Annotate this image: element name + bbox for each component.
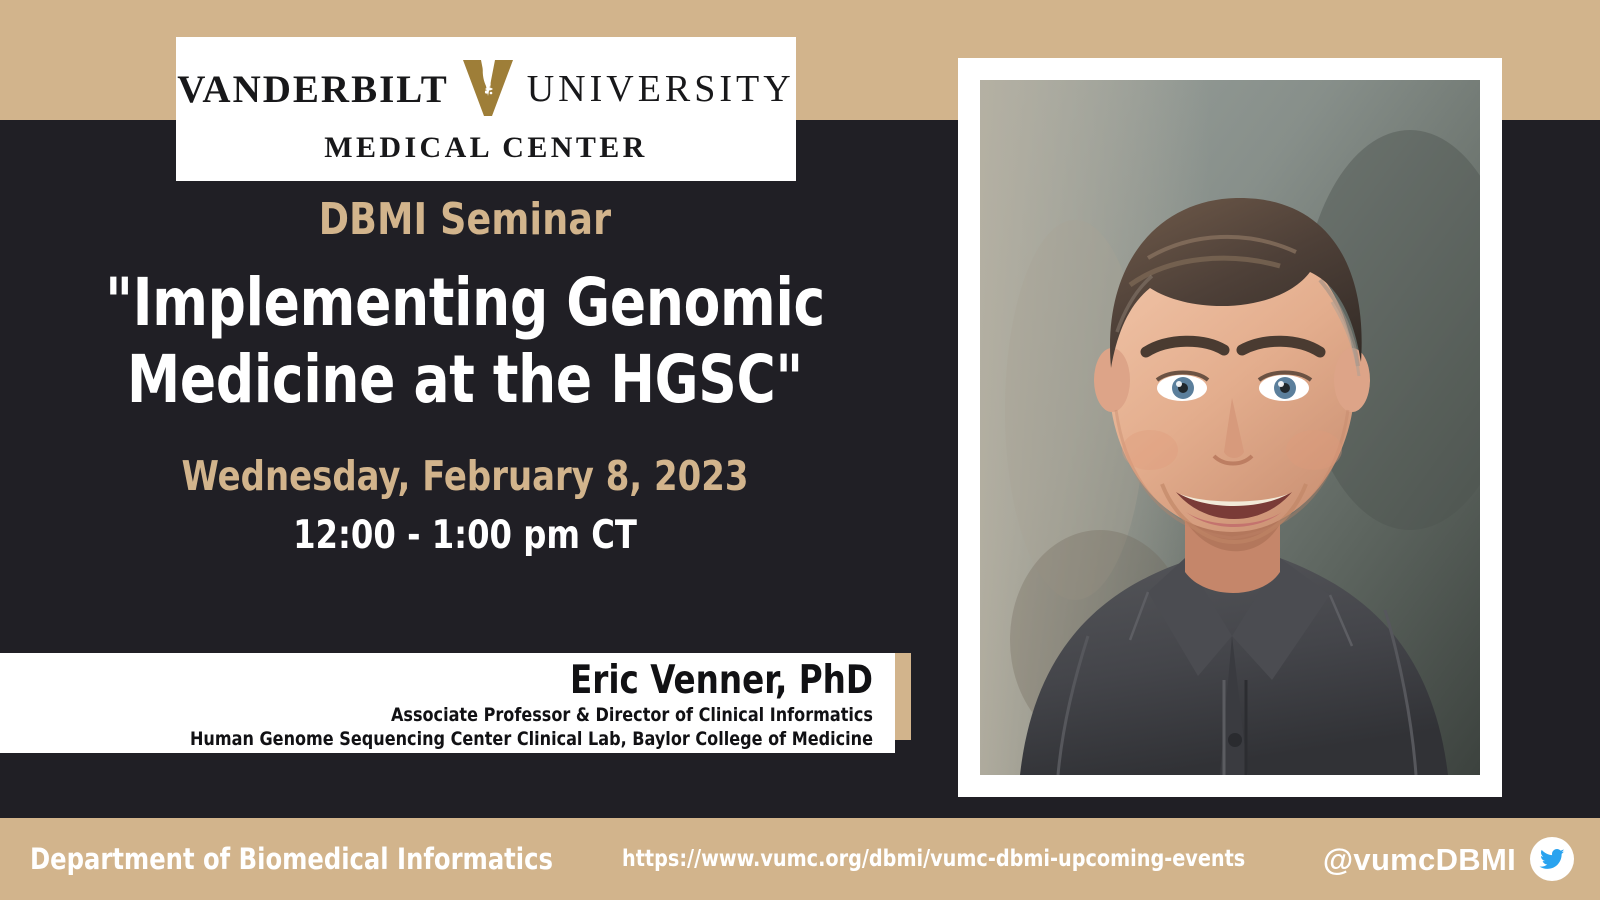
- seminar-title: "Implementing Genomic Medicine at the HG…: [47, 264, 884, 418]
- speaker-headshot: [980, 80, 1480, 775]
- vumc-logo: VANDERBILT UNIVERSITY MEDICAL CENTER: [176, 37, 796, 181]
- speaker-affiliation: Human Genome Sequencing Center Clinical …: [52, 727, 873, 751]
- speaker-name: Eric Venner, PhD: [61, 659, 873, 703]
- twitter-bird-icon[interactable]: [1530, 837, 1574, 881]
- footer-url[interactable]: https://www.vumc.org/dbmi/vumc-dbmi-upco…: [622, 848, 1245, 871]
- footer: Department of Biomedical Informatics htt…: [0, 818, 1600, 900]
- logo-medical-center-text: MEDICAL CENTER: [324, 133, 647, 163]
- seminar-kicker: DBMI Seminar: [37, 196, 893, 244]
- footer-department: Department of Biomedical Informatics: [30, 845, 553, 874]
- event-time: 12:00 - 1:00 pm CT: [37, 515, 893, 558]
- logo-university-text: UNIVERSITY: [527, 70, 795, 108]
- vumc-logo-top-line: VANDERBILT UNIVERSITY: [177, 56, 794, 123]
- footer-social-group[interactable]: @vumcDBMI: [1323, 837, 1574, 881]
- logo-vanderbilt-text: VANDERBILT: [177, 70, 448, 109]
- twitter-handle[interactable]: @vumcDBMI: [1323, 844, 1516, 875]
- seminar-title-line-2: Medicine at the HGSC": [47, 341, 884, 418]
- vanderbilt-v-icon: [459, 56, 517, 123]
- speaker-bar-accent: [895, 653, 911, 740]
- speaker-info-bar: Eric Venner, PhD Associate Professor & D…: [0, 653, 895, 753]
- event-text-column: DBMI Seminar "Implementing Genomic Medic…: [0, 196, 930, 558]
- seminar-flyer: VANDERBILT UNIVERSITY MEDICAL CENTER DBM…: [0, 0, 1600, 900]
- event-date: Wednesday, February 8, 2023: [37, 454, 893, 499]
- speaker-role: Associate Professor & Director of Clinic…: [52, 703, 873, 727]
- seminar-title-line-1: "Implementing Genomic: [47, 264, 884, 341]
- speaker-photo-frame: [958, 58, 1502, 797]
